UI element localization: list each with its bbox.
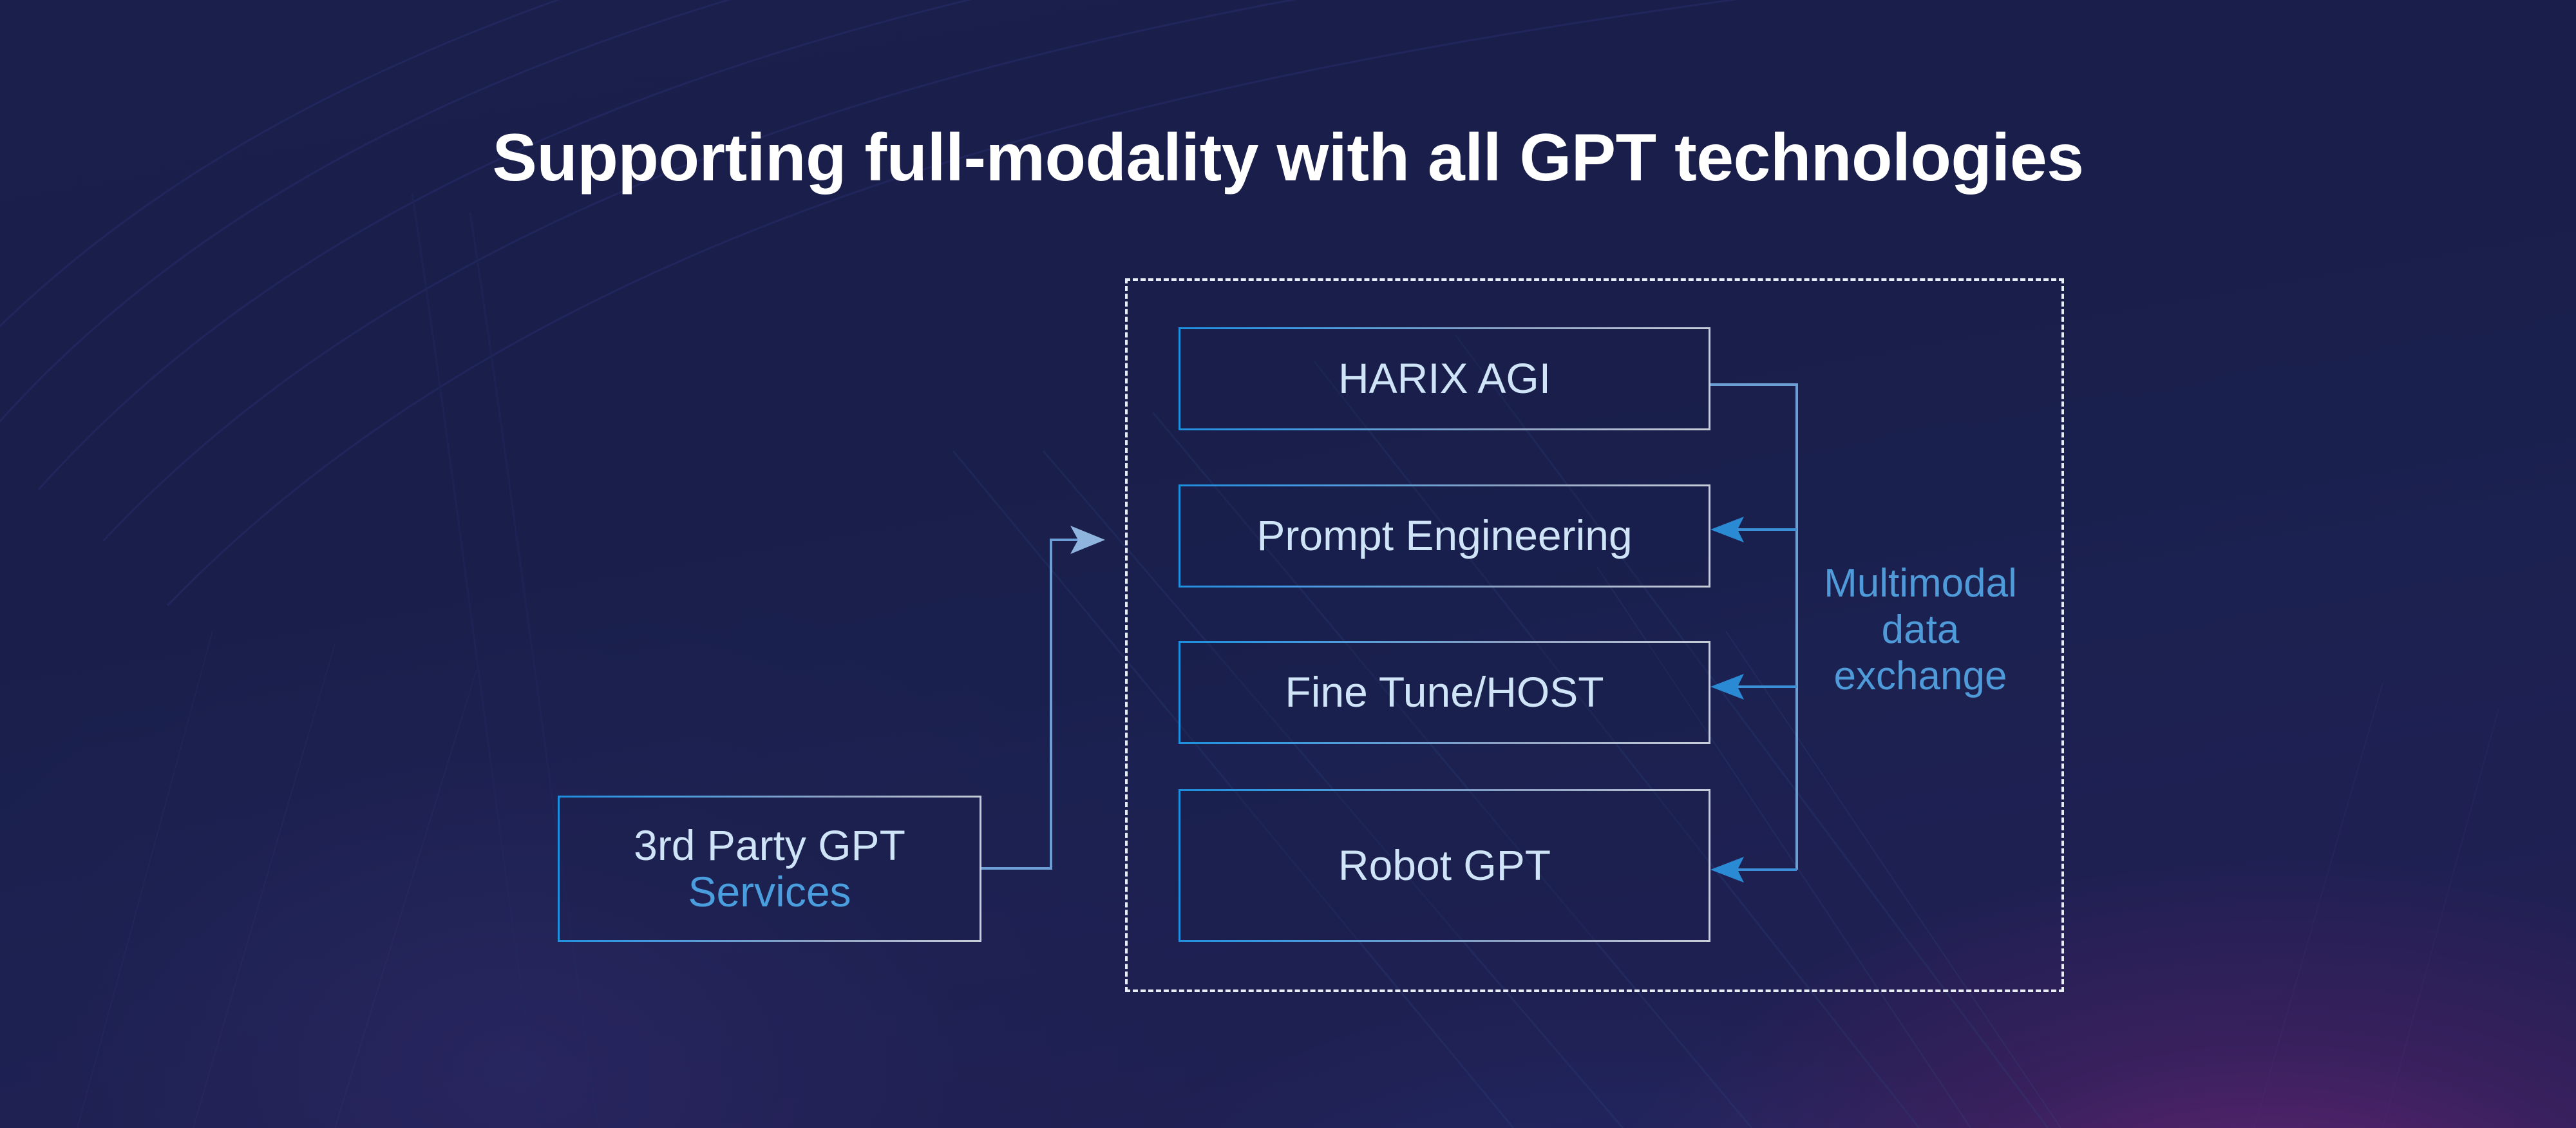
third-party-line-1: 3rd Party GPT bbox=[634, 821, 905, 869]
box-robot-gpt[interactable]: Robot GPT bbox=[1179, 789, 1710, 942]
third-party-line-2: Services bbox=[688, 868, 851, 915]
box-fine-tune-host-label: Fine Tune/HOST bbox=[1285, 669, 1604, 715]
box-third-party-gpt-services[interactable]: 3rd Party GPT Services bbox=[558, 796, 981, 942]
box-fine-tune-host[interactable]: Fine Tune/HOST bbox=[1179, 641, 1710, 744]
box-third-party-gpt-services-text: 3rd Party GPT Services bbox=[634, 823, 905, 915]
multimodal-data-exchange-label: Multimodal data exchange bbox=[1811, 560, 2030, 700]
exchange-label-line-3: exchange bbox=[1834, 654, 2007, 698]
box-harix-agi[interactable]: HARIX AGI bbox=[1179, 327, 1710, 430]
exchange-label-line-2: data bbox=[1882, 607, 1960, 652]
box-harix-agi-label: HARIX AGI bbox=[1338, 356, 1551, 401]
page-title: Supporting full-modality with all GPT te… bbox=[0, 120, 2576, 196]
exchange-label-line-1: Multimodal bbox=[1824, 561, 2017, 606]
box-robot-gpt-label: Robot GPT bbox=[1338, 843, 1551, 888]
box-prompt-engineering[interactable]: Prompt Engineering bbox=[1179, 484, 1710, 588]
box-prompt-engineering-label: Prompt Engineering bbox=[1256, 513, 1632, 559]
